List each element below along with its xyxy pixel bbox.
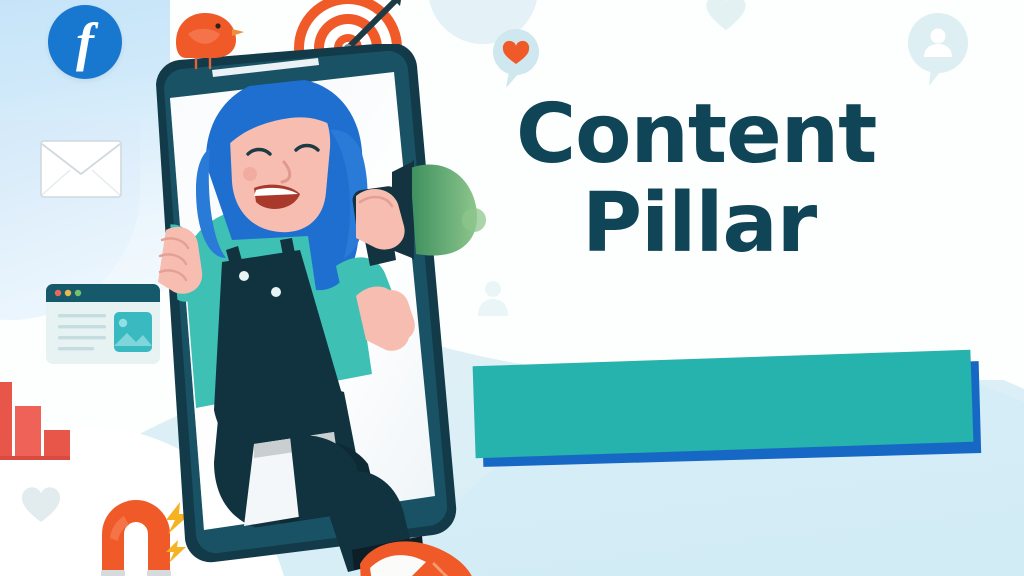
page-title: Content Pillar — [516, 96, 986, 263]
heart-icon — [705, 0, 747, 34]
banner-fill — [473, 350, 974, 458]
highlight-banner — [470, 352, 982, 470]
title-line-2: Pillar — [516, 185, 986, 264]
phone-character-illustration — [104, 44, 504, 576]
heart-icon — [20, 484, 62, 524]
speech-bubble-user-icon — [905, 12, 971, 78]
bar-chart-icon — [0, 378, 74, 460]
title-line-1: Content — [516, 96, 986, 175]
bird-icon — [166, 6, 246, 72]
poster-canvas: f — [0, 0, 1024, 576]
